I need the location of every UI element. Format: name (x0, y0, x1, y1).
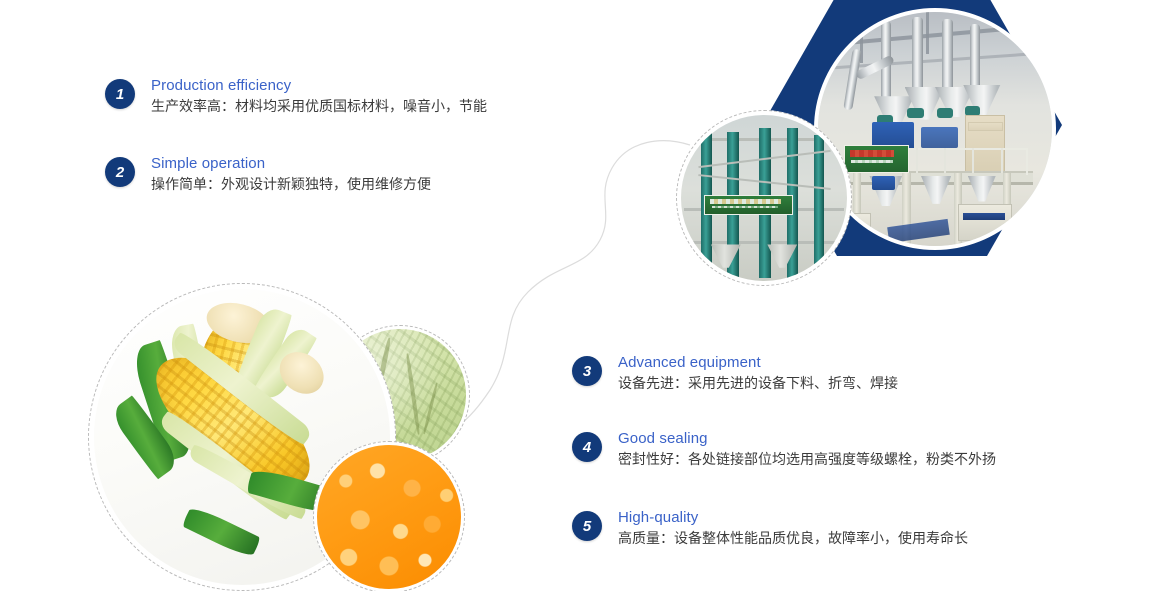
feature-text-5: High-quality 高质量：设备整体性能品质优良，故障率小，使用寿命长 (618, 508, 968, 549)
feature-title-4: Good sealing (618, 429, 996, 448)
feature-item-1[interactable]: 1 Production efficiency 生产效率高：材料均采用优质国标材… (105, 76, 487, 117)
feature-desc-1: 生产效率高：材料均采用优质国标材料，噪音小，节能 (151, 96, 487, 117)
feature-badge-1: 1 (105, 79, 135, 109)
advantages-infographic: 1 Production efficiency 生产效率高：材料均采用优质国标材… (0, 0, 1154, 591)
feature-text-4: Good sealing 密封性好：各处链接部位均选用高强度等级螺栓，粉类不外扬 (618, 429, 996, 470)
feature-badge-5: 5 (572, 511, 602, 541)
feature-item-3[interactable]: 3 Advanced equipment 设备先进：采用先进的设备下料、折弯、焊… (572, 353, 898, 394)
feature-title-2: Simple operation (151, 154, 431, 173)
feature-title-5: High-quality (618, 508, 968, 527)
feature-title-3: Advanced equipment (618, 353, 898, 372)
feature-text-3: Advanced equipment 设备先进：采用先进的设备下料、折弯、焊接 (618, 353, 898, 394)
feature-text-1: Production efficiency 生产效率高：材料均采用优质国标材料，… (151, 76, 487, 117)
feature-badge-2: 2 (105, 157, 135, 187)
feature-badge-3: 3 (572, 356, 602, 386)
feature-desc-2: 操作简单：外观设计新颖独特，使用维修方便 (151, 174, 431, 195)
corn-grits-photo (313, 441, 465, 591)
feature-desc-3: 设备先进：采用先进的设备下料、折弯、焊接 (618, 373, 898, 394)
green-milling-equipment-photo (676, 110, 852, 286)
feature-badge-4: 4 (572, 432, 602, 462)
feature-desc-4: 密封性好：各处链接部位均选用高强度等级螺栓，粉类不外扬 (618, 449, 996, 470)
feature-item-4[interactable]: 4 Good sealing 密封性好：各处链接部位均选用高强度等级螺栓，粉类不… (572, 429, 996, 470)
feature-text-2: Simple operation 操作简单：外观设计新颖独特，使用维修方便 (151, 154, 431, 195)
feature-desc-5: 高质量：设备整体性能品质优良，故障率小，使用寿命长 (618, 528, 968, 549)
feature-item-5[interactable]: 5 High-quality 高质量：设备整体性能品质优良，故障率小，使用寿命长 (572, 508, 968, 549)
feature-title-1: Production efficiency (151, 76, 487, 95)
feature-item-2[interactable]: 2 Simple operation 操作简单：外观设计新颖独特，使用维修方便 (105, 154, 431, 195)
